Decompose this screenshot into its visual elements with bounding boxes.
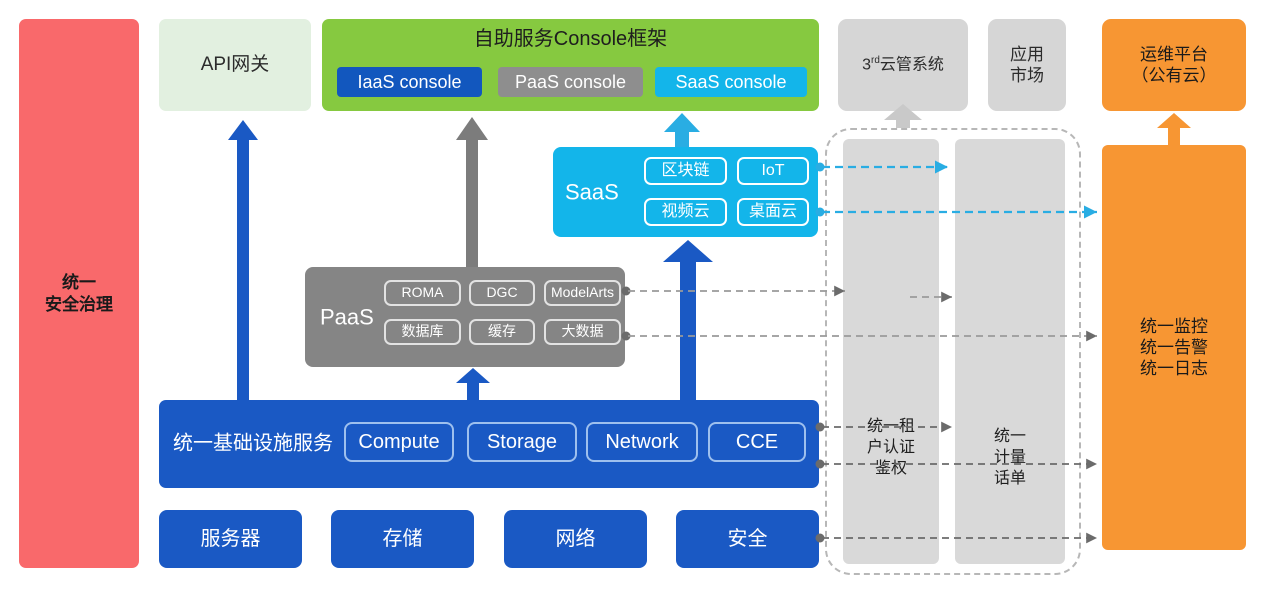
arrow-monitoring-to-ops	[1157, 113, 1191, 145]
unified-infrastructure-bar: 统一基础设施服务 Compute Storage Network CCE	[159, 400, 819, 488]
third-party-label: 3rd云管系统	[862, 55, 944, 75]
paas-chip-database[interactable]: 数据库	[384, 319, 461, 345]
ordinal-suffix: rd	[871, 55, 880, 66]
saas-chip-desktop-cloud[interactable]: 桌面云	[737, 198, 809, 226]
hardware-storage-box: 存储	[331, 510, 474, 568]
unified-monitoring-column: 统一监控 统一告警 统一日志	[1102, 145, 1246, 550]
infra-chip-network[interactable]: Network	[586, 422, 698, 462]
arrow-infra-to-saas	[663, 240, 713, 400]
dashed-paas-to-tenant-auth	[622, 287, 846, 296]
saas-console-chip[interactable]: SaaS console	[655, 67, 807, 97]
paas-console-chip[interactable]: PaaS console	[498, 67, 643, 97]
iaas-console-chip[interactable]: IaaS console	[337, 67, 482, 97]
app-market-box: 应用 市场	[988, 19, 1066, 111]
paas-chip-roma[interactable]: ROMA	[384, 280, 461, 306]
infra-chip-cce[interactable]: CCE	[708, 422, 806, 462]
metering-billing-label: 统一 计量 话单	[955, 427, 1065, 489]
paas-chip-modelarts[interactable]: ModelArts	[544, 280, 621, 306]
arrow-paas-to-console	[456, 117, 488, 267]
arrow-infra-to-api-gateway	[228, 120, 258, 400]
api-gateway-box: API网关	[159, 19, 311, 111]
architecture-diagram: 统一 安全治理 API网关 自助服务Console框架 IaaS console…	[0, 0, 1265, 605]
saas-block: SaaS 区块链 IoT 视频云 桌面云	[553, 147, 818, 237]
saas-chip-blockchain[interactable]: 区块链	[644, 157, 727, 185]
hardware-network-box: 网络	[504, 510, 647, 568]
saas-chip-iot[interactable]: IoT	[737, 157, 809, 185]
paas-chip-dgc[interactable]: DGC	[469, 280, 535, 306]
paas-block: PaaS ROMA DGC ModelArts 数据库 缓存 大数据	[305, 267, 625, 367]
tenant-auth-label: 统一租 户认证 鉴权	[843, 417, 939, 479]
arrow-saas-to-console	[664, 113, 700, 147]
hardware-security-box: 安全	[676, 510, 819, 568]
infrastructure-label: 统一基础设施服务	[173, 432, 333, 457]
paas-label: PaaS	[320, 303, 374, 331]
self-service-console-frame: 自助服务Console框架 IaaS console PaaS console …	[322, 19, 819, 111]
hardware-server-box: 服务器	[159, 510, 302, 568]
third-party-cloud-mgmt-box: 3rd云管系统	[838, 19, 968, 111]
metering-billing-pillar: 统一 计量 话单	[955, 139, 1065, 564]
arrow-infra-to-paas	[456, 368, 490, 400]
console-frame-title: 自助服务Console框架	[322, 27, 819, 52]
tenant-auth-pillar: 统一租 户认证 鉴权	[843, 139, 939, 564]
saas-chip-video-cloud[interactable]: 视频云	[644, 198, 727, 226]
paas-chip-cache[interactable]: 缓存	[469, 319, 535, 345]
ops-platform-box: 运维平台 （公有云）	[1102, 19, 1246, 111]
saas-label: SaaS	[565, 178, 619, 206]
infra-chip-storage[interactable]: Storage	[467, 422, 577, 462]
paas-chip-bigdata[interactable]: 大数据	[544, 319, 621, 345]
infra-chip-compute[interactable]: Compute	[344, 422, 454, 462]
security-governance-column: 统一 安全治理	[19, 19, 139, 568]
